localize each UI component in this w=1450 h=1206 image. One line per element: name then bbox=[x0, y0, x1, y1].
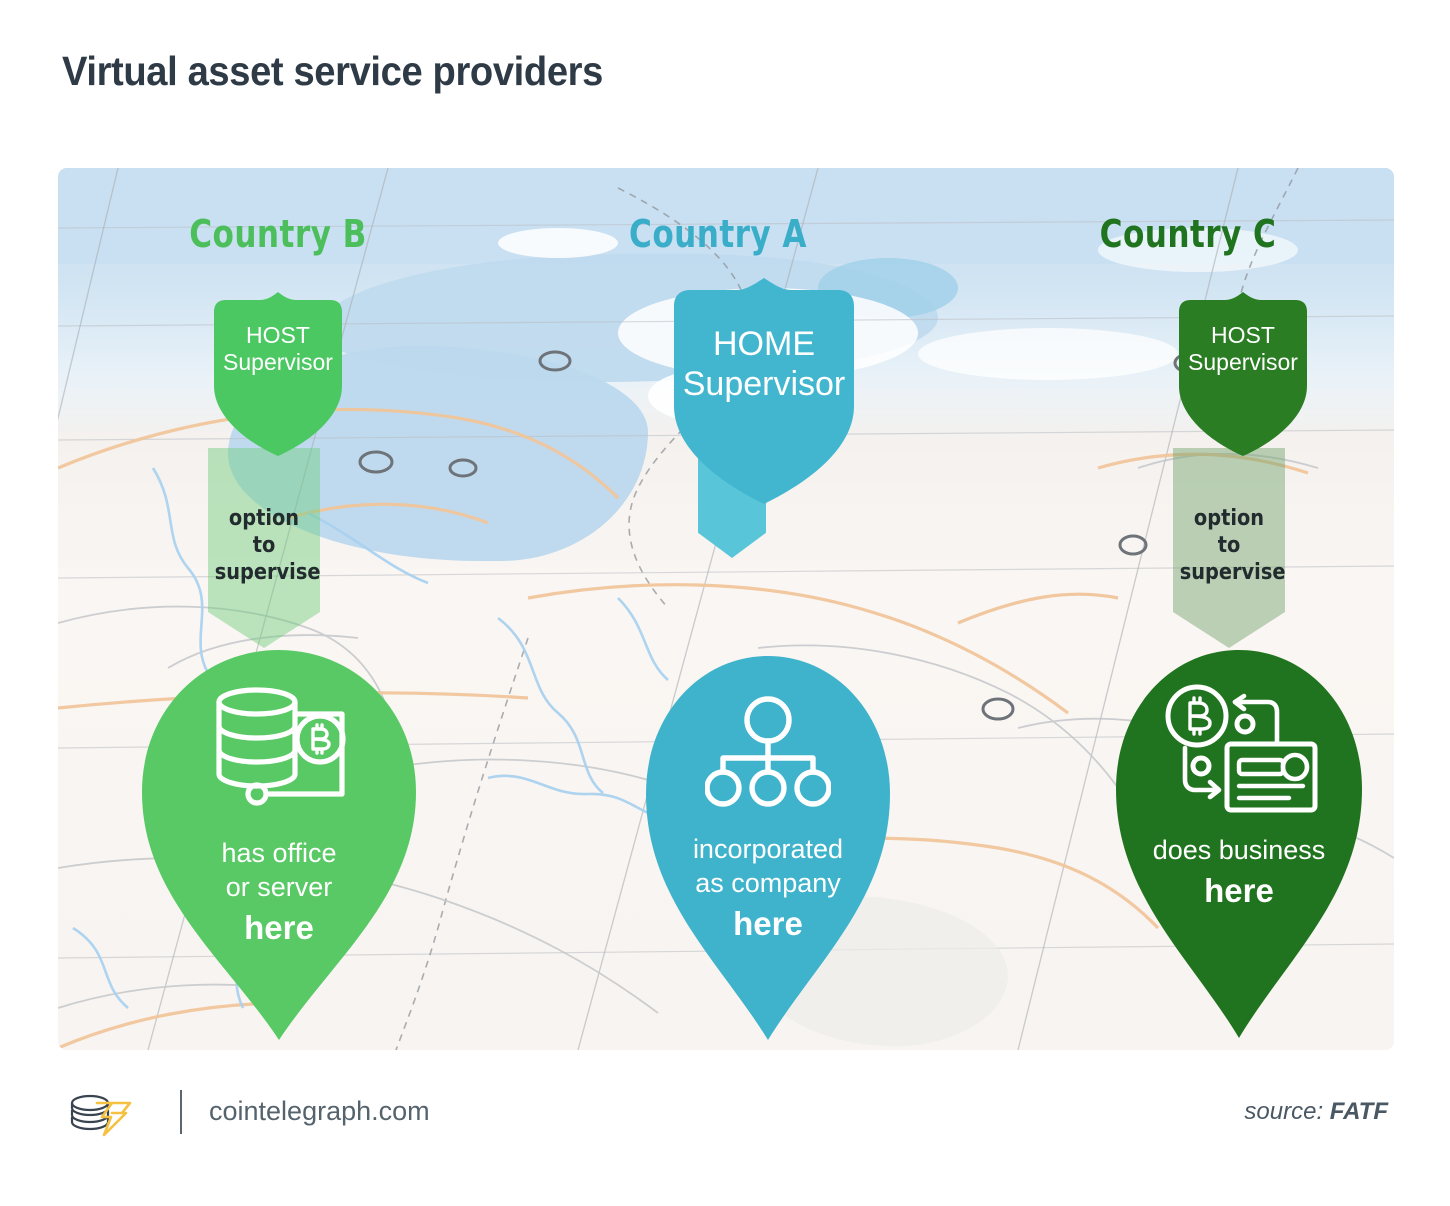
country-c-label: Country C bbox=[1016, 212, 1360, 256]
org-chart-hierarchy-icon bbox=[705, 696, 831, 808]
source-prefix: source: bbox=[1244, 1098, 1329, 1125]
database-server-bitcoin-icon bbox=[207, 684, 351, 814]
footer-divider bbox=[180, 1090, 182, 1134]
country-a-shield[interactable]: HOME Supervisor bbox=[662, 276, 866, 508]
country-a-pin[interactable]: incorporated as company here bbox=[638, 648, 898, 1042]
country-c-pin-text: does business here bbox=[1108, 834, 1370, 911]
country-a-pin-text: incorporated as company here bbox=[638, 833, 898, 944]
cointelegraph-logo[interactable] bbox=[64, 1090, 136, 1138]
country-a-label: Country A bbox=[546, 212, 890, 256]
source-name: FATF bbox=[1330, 1098, 1388, 1125]
footer: cointelegraph.com source: FATF bbox=[58, 1086, 1394, 1148]
site-name: cointelegraph.com bbox=[209, 1096, 430, 1127]
bitcoin-exchange-card-icon bbox=[1157, 682, 1321, 818]
country-b-label: Country B bbox=[106, 212, 450, 256]
country-a-shield-text: HOME Supervisor bbox=[662, 324, 866, 404]
country-b-shield-text: HOST Supervisor bbox=[204, 322, 352, 376]
page-title: Virtual asset service providers bbox=[62, 48, 603, 95]
country-b-option-band: option to supervise bbox=[208, 448, 320, 648]
country-c-option-band: option to supervise bbox=[1173, 448, 1285, 648]
country-b-pin-icon bbox=[134, 684, 424, 814]
country-c-pin[interactable]: does business here bbox=[1108, 642, 1370, 1040]
country-b-band-text: option to supervise bbox=[215, 506, 314, 586]
country-b-pin[interactable]: has office or server here bbox=[134, 642, 424, 1042]
country-b-pin-text: has office or server here bbox=[134, 837, 424, 948]
country-c-shield-text: HOST Supervisor bbox=[1169, 322, 1317, 376]
country-c-band-text: option to supervise bbox=[1180, 506, 1279, 586]
cointelegraph-coins-logo bbox=[64, 1090, 136, 1138]
country-c-shield[interactable]: HOST Supervisor bbox=[1169, 290, 1317, 460]
infographic-map-panel: Country B option to supervise HOST Super… bbox=[58, 168, 1394, 1050]
country-a-pin-icon bbox=[638, 696, 898, 808]
country-c-pin-icon bbox=[1108, 682, 1370, 818]
source-credit: source: FATF bbox=[1244, 1098, 1388, 1126]
country-b-shield[interactable]: HOST Supervisor bbox=[204, 290, 352, 460]
